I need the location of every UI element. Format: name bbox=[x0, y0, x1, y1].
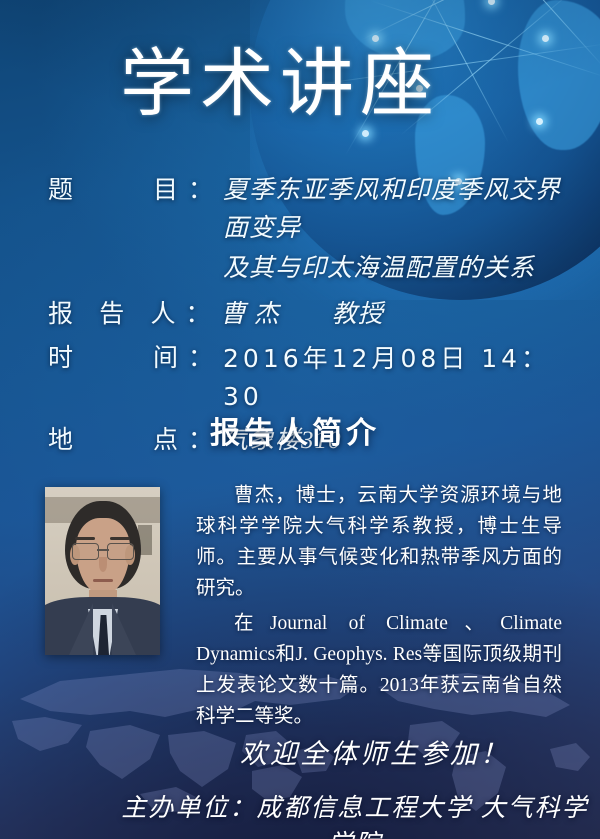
page-title: 学术讲座 bbox=[0, 48, 600, 122]
info-label-topic: 题 目： bbox=[48, 172, 223, 210]
speaker-photo bbox=[45, 487, 160, 655]
topic-line-1: 夏季东亚季风和印度季风交界面变异 bbox=[223, 172, 568, 248]
bio-paragraph-1: 曹杰，博士，云南大学资源环境与地球科学学院大气科学系教授，博士生导师。主要从事气… bbox=[196, 480, 562, 604]
portrait-nose bbox=[99, 557, 107, 572]
glasses-lens-left bbox=[72, 543, 99, 560]
portrait-mouth bbox=[93, 579, 113, 582]
portrait-eyebrow-right bbox=[110, 537, 130, 540]
organizer-line: 主办单位：成都信息工程大学 大气科学学院 bbox=[0, 788, 600, 839]
poster-content: 学术讲座 题 目： 夏季东亚季风和印度季风交界面变异 及其与印太海温配置的关系 … bbox=[0, 0, 600, 839]
portrait-eyebrow-left bbox=[75, 537, 95, 540]
glasses-lens-right bbox=[107, 543, 134, 560]
info-label-speaker: 报 告 人： bbox=[48, 296, 221, 334]
welcome-line: 欢迎全体师生参加！ bbox=[0, 732, 600, 771]
info-value-topic: 夏季东亚季风和印度季风交界面变异 及其与印太海温配置的关系 bbox=[223, 172, 568, 288]
bio-section-heading: 报告人简介 bbox=[0, 408, 600, 452]
bio-text-block: 曹杰，博士，云南大学资源环境与地球科学学院大气科学系教授，博士生导师。主要从事气… bbox=[196, 480, 562, 736]
glasses-bridge bbox=[97, 549, 109, 551]
info-value-speaker: 曹 杰 教授 bbox=[221, 296, 568, 334]
info-row-topic: 题 目： 夏季东亚季风和印度季风交界面变异 及其与印太海温配置的关系 bbox=[48, 172, 568, 288]
academic-lecture-poster: 学术讲座 题 目： 夏季东亚季风和印度季风交界面变异 及其与印太海温配置的关系 … bbox=[0, 0, 600, 839]
info-label-time: 时 间： bbox=[48, 340, 223, 378]
info-row-time: 时 间： 2016年12月08日 14：30 bbox=[48, 340, 568, 416]
bio-paragraph-2: 在Journal of Climate、Climate Dynamics和J. … bbox=[196, 608, 562, 732]
info-row-speaker: 报 告 人： 曹 杰 教授 bbox=[48, 296, 568, 334]
info-value-time: 2016年12月08日 14：30 bbox=[223, 340, 568, 416]
topic-line-2: 及其与印太海温配置的关系 bbox=[223, 250, 568, 288]
